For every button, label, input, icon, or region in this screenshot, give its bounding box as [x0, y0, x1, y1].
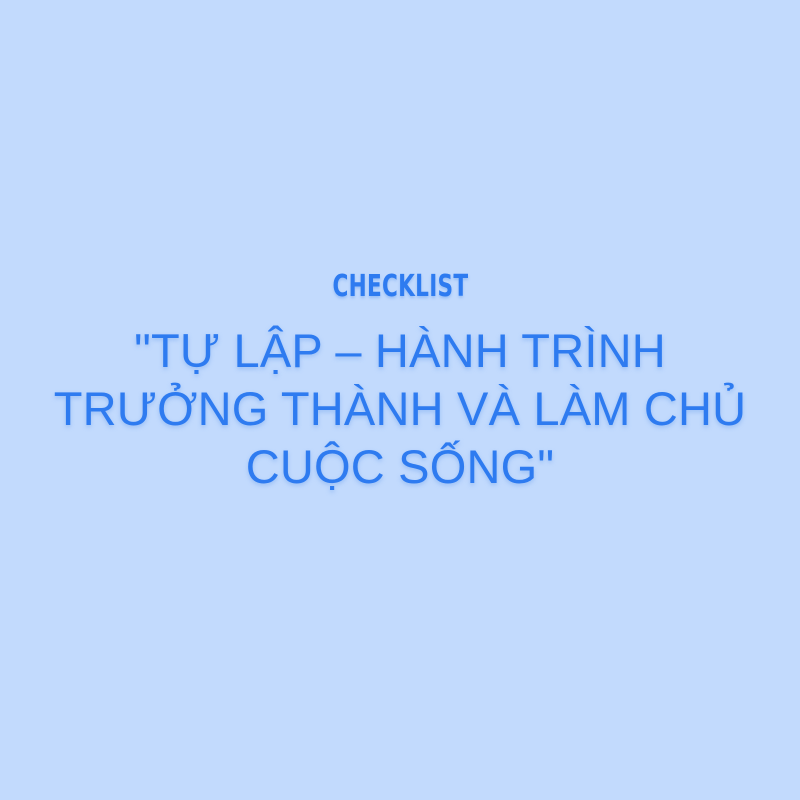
- eyebrow-label: CHECKLIST: [332, 272, 468, 302]
- headline-line-1: "TỰ LẬP – HÀNH TRÌNH: [54, 322, 747, 380]
- poster-canvas: CHECKLIST "TỰ LẬP – HÀNH TRÌNH TRƯỞNG TH…: [0, 0, 800, 800]
- headline: "TỰ LẬP – HÀNH TRÌNH TRƯỞNG THÀNH VÀ LÀM…: [54, 322, 747, 496]
- headline-line-3: CUỘC SỐNG": [54, 438, 747, 496]
- title-block: CHECKLIST "TỰ LẬP – HÀNH TRÌNH TRƯỞNG TH…: [0, 272, 800, 496]
- headline-line-2: TRƯỞNG THÀNH VÀ LÀM CHỦ: [54, 380, 747, 438]
